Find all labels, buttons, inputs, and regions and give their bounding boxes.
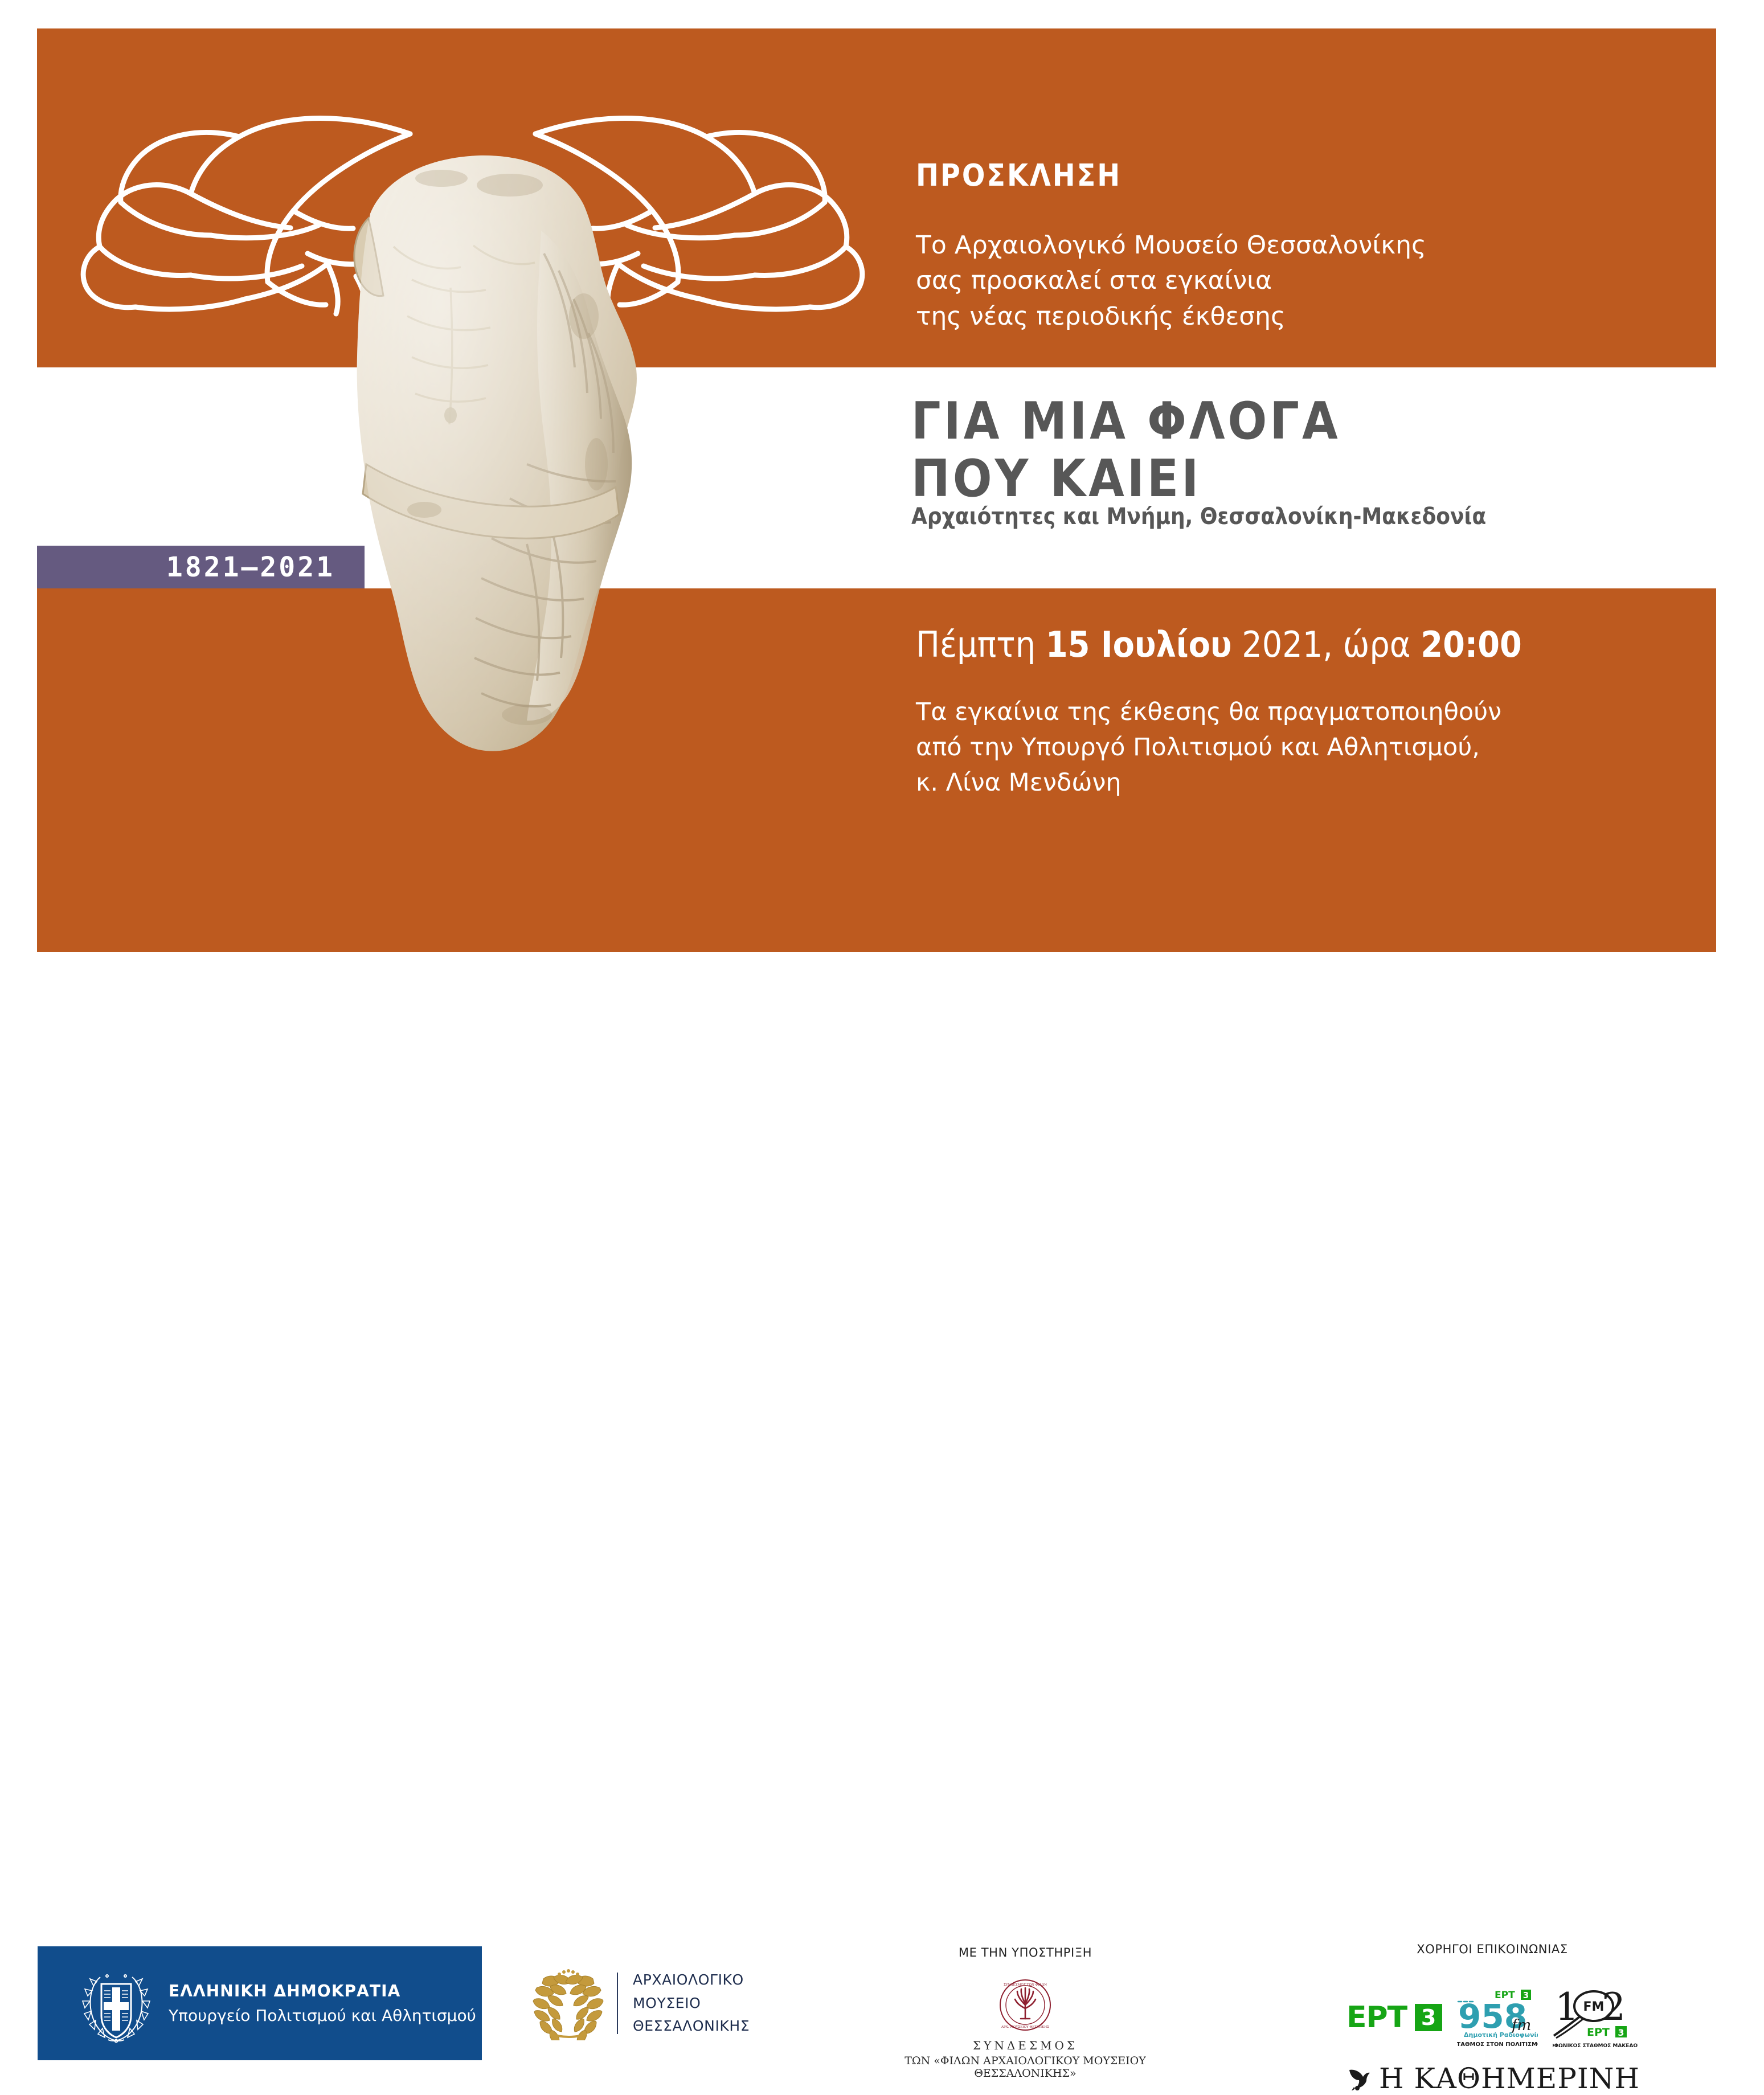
event-detail-line-3: κ. Λίνα Μενδώνη xyxy=(916,766,1501,801)
svg-text:FM: FM xyxy=(1583,2000,1605,2014)
support-name-line-2: ΤΩΝ «ΦΙΛΩΝ ΑΡΧΑΙΟΛΟΓΙΚΟΥ ΜΟΥΣΕΙΟΥ ΘΕΣΣΑΛ… xyxy=(871,2055,1179,2080)
media-sponsors-caption: ΧΟΡΗΓΟΙ ΕΠΙΚΟΙΝΩΝΙΑΣ xyxy=(1327,1942,1657,1956)
event-datetime: Πέμπτη 15 Ιουλίου 2021, ώρα 20:00 xyxy=(916,625,1522,664)
svg-text:ΣΤΑΘΜΟΣ ΣΤΟΝ ΠΟΛΙΤΙΣΜΟ: ΣΤΑΘΜΟΣ ΣΤΟΝ ΠΟΛΙΤΙΣΜΟ xyxy=(1457,2041,1538,2048)
svg-text:ΕΡΤ: ΕΡΤ xyxy=(1495,1990,1515,2001)
kathimerini-name: Η ΚΑΘΗΜΕΡΙΝΗ xyxy=(1379,2062,1640,2095)
svg-text:3: 3 xyxy=(1523,1990,1529,2000)
kathimerini-logo: Η ΚΑΘΗΜΕΡΙΝΗ xyxy=(1327,2062,1657,2095)
svg-text:ΕΡΤ: ΕΡΤ xyxy=(1587,2026,1610,2039)
event-day: Πέμπτη xyxy=(916,624,1046,665)
archaeological-museum-logo: ΑΡΧΑΙΟΛΟΓΙΚΟ ΜΟΥΣΕΙΟ ΘΕΣΣΑΛΟΝΙΚΗΣ xyxy=(530,1961,769,2046)
exhibition-title: ΓΙΑ ΜΙΑ ΦΛΟΓΑ ΠΟΥ ΚΑΙΕΙ xyxy=(911,393,1341,508)
poster-canvas: ΠΡΟΣΚΛΗΣΗ Το Αρχαιολογικό Μουσείο Θεσσαλ… xyxy=(0,0,1764,1165)
anniversary-badge: 1821–2021 xyxy=(37,546,365,588)
amth-logo-text: ΑΡΧΑΙΟΛΟΓΙΚΟ ΜΟΥΣΕΙΟ ΘΕΣΣΑΛΟΝΙΚΗΣ xyxy=(633,1969,750,2038)
invitation-line-3: της νέας περιοδικής έκθεσης xyxy=(916,299,1426,334)
ministry-line-2: Υπουργείο Πολιτισμού και Αθλητισμού xyxy=(169,2006,476,2025)
amth-line-1: ΑΡΧΑΙΟΛΟΓΙΚΟ xyxy=(633,1969,750,1992)
event-year: 2021, ώρα xyxy=(1232,624,1421,665)
invitation-line-2: σας προσκαλεί στα εγκαίνια xyxy=(916,263,1426,298)
support-name-line-1: ΣΥΝΔΕΣΜΟΣ xyxy=(871,2039,1179,2052)
exhibition-title-line-2: ΠΟΥ ΚΑΙΕΙ xyxy=(911,451,1341,508)
svg-text:3: 3 xyxy=(1618,2027,1624,2038)
invitation-line-1: Το Αρχαιολογικό Μουσείο Θεσσαλονίκης xyxy=(916,228,1426,263)
ministry-of-culture-logo: ΕΛΛΗΝΙΚΗ ΔΗΜΟΚΡΑΤΙΑ Υπουργείο Πολιτισμού… xyxy=(38,1946,482,2060)
ert3-number: 3 xyxy=(1415,2004,1442,2031)
support-section: ΜΕ ΤΗΝ ΥΠΟΣΤΗΡΙΞΗ ΣΥΝΔΕΣΜΟΣ ΤΩΝ ΦΙΛΩΝ xyxy=(871,1946,1179,2080)
event-date: 15 Ιουλίου xyxy=(1046,624,1232,665)
ert3-word: ΕΡΤ xyxy=(1346,2000,1407,2035)
exhibition-subtitle: Αρχαιότητες και Μνήμη, Θεσσαλονίκη-Μακεδ… xyxy=(911,504,1486,530)
svg-text:ΡΑΔΙΟΦΩΝΙΚΟΣ ΣΤΑΘΜΟΣ ΜΑΚΕΔΟΝΙΑ: ΡΑΔΙΟΦΩΝΙΚΟΣ ΣΤΑΘΜΟΣ ΜΑΚΕΔΟΝΙΑΣ xyxy=(1553,2043,1638,2049)
event-detail-line-1: Τα εγκαίνια της έκθεσης θα πραγματοποιηθ… xyxy=(916,695,1501,730)
amth-line-2: ΜΟΥΣΕΙΟ xyxy=(633,1992,750,2015)
event-detail-line-2: από την Υπουργό Πολιτισμού και Αθλητισμο… xyxy=(916,730,1501,766)
support-caption: ΜΕ ΤΗΝ ΥΠΟΣΤΗΡΙΞΗ xyxy=(871,1946,1179,1959)
958fm-radio-logo: 958 fm ΕΡΤ 3 Δημοτική Ραδιοφωνία ΣΤΑΘΜΟΣ… xyxy=(1457,1986,1538,2049)
102fm-radio-logo: 1 2 FM ΕΡΤ 3 ΡΑΔΙΟΦΩΝΙΚΟΣ ΣΤΑΘΜΟΣ ΜΑΚΕΔΟ… xyxy=(1553,1983,1638,2052)
kathimerini-griffin-icon xyxy=(1345,2065,1371,2092)
event-time: 20:00 xyxy=(1421,624,1522,665)
svg-text:ΣΥΝΔΕΣΜΟΣ ΤΩΝ ΦΙΛΩΝ: ΣΥΝΔΕΣΜΟΣ ΤΩΝ ΦΙΛΩΝ xyxy=(1004,1983,1047,1987)
ert3-logo: ΕΡΤ 3 xyxy=(1346,2000,1442,2035)
marble-torso-statue-image xyxy=(339,145,692,789)
gold-wreath-icon xyxy=(530,1966,607,2040)
invitation-label: ΠΡΟΣΚΛΗΣΗ xyxy=(916,158,1122,193)
event-details: Τα εγκαίνια της έκθεσης θα πραγματοποιηθ… xyxy=(916,695,1501,801)
exhibition-title-line-1: ΓΙΑ ΜΙΑ ΦΛΟΓΑ xyxy=(911,393,1341,451)
amth-divider xyxy=(617,1973,618,2034)
friends-of-museum-seal-icon: ΣΥΝΔΕΣΜΟΣ ΤΩΝ ΦΙΛΩΝ ΑΡΧ. ΜΟΥΣΕΙΟΥ ΘΕΣ/ΝΙ… xyxy=(999,1979,1051,2031)
ministry-line-1: ΕΛΛΗΝΙΚΗ ΔΗΜΟΚΡΑΤΙΑ xyxy=(169,1982,476,2000)
media-sponsors-section: ΧΟΡΗΓΟΙ ΕΠΙΚΟΙΝΩΝΙΑΣ ΕΡΤ 3 958 fm ΕΡΤ 3 xyxy=(1327,1942,1657,2095)
svg-text:Δημοτική Ραδιοφωνία: Δημοτική Ραδιοφωνία xyxy=(1464,2031,1538,2039)
invitation-body: Το Αρχαιολογικό Μουσείο Θεσσαλονίκης σας… xyxy=(916,228,1426,334)
footer-logos: ΕΛΛΗΝΙΚΗ ΔΗΜΟΚΡΑΤΙΑ Υπουργείο Πολιτισμού… xyxy=(0,963,1764,1165)
ministry-logo-text: ΕΛΛΗΝΙΚΗ ΔΗΜΟΚΡΑΤΙΑ Υπουργείο Πολιτισμού… xyxy=(169,1982,476,2025)
amth-line-3: ΘΕΣΣΑΛΟΝΙΚΗΣ xyxy=(633,2015,750,2038)
media-sponsors-row: ΕΡΤ 3 958 fm ΕΡΤ 3 Δημο xyxy=(1327,1983,1657,2052)
anniversary-badge-label: 1821–2021 xyxy=(166,551,335,583)
greek-republic-crest-icon xyxy=(82,1961,150,2045)
svg-text:ΑΡΧ. ΜΟΥΣΕΙΟΥ ΘΕΣ/ΝΙΚΗΣ: ΑΡΧ. ΜΟΥΣΕΙΟΥ ΘΕΣ/ΝΙΚΗΣ xyxy=(1001,2026,1049,2029)
